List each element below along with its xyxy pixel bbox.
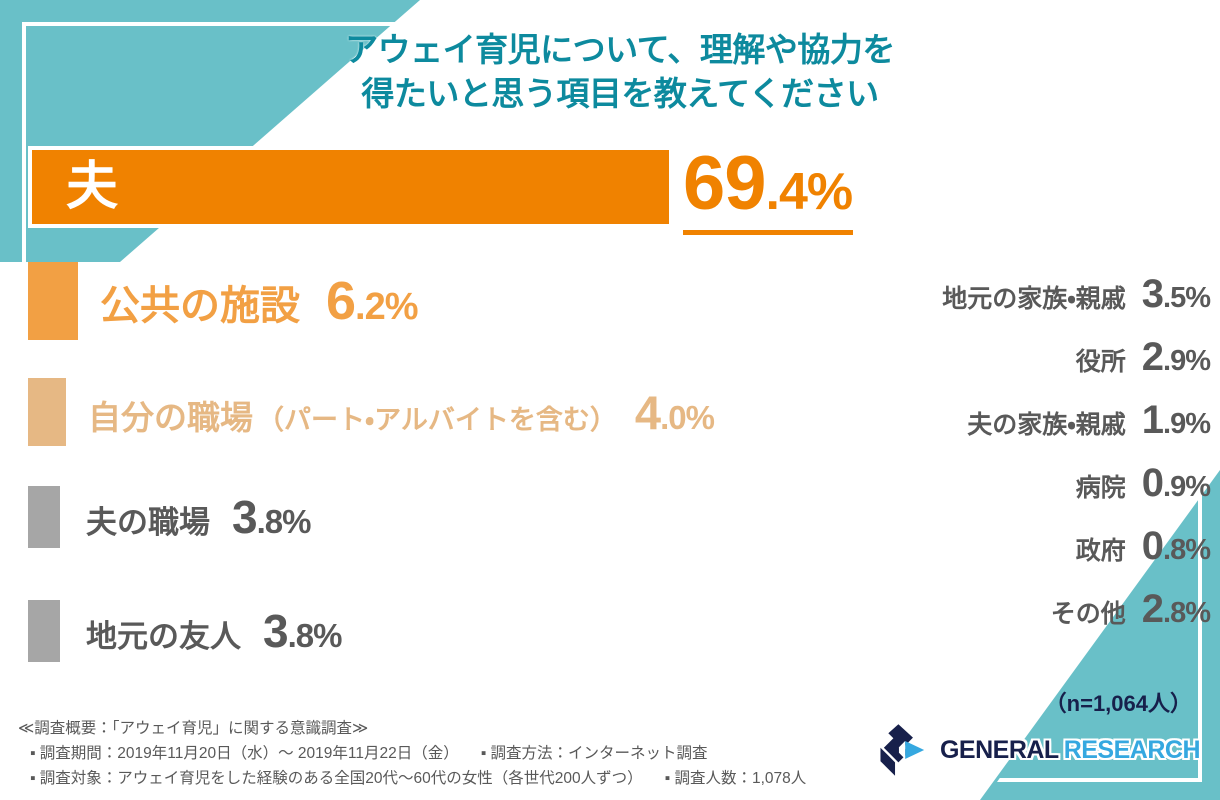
row-label-sub: （パート・アルバイトを含む） <box>257 398 617 437</box>
footnote-line-1: ≪調査概要：「アウェイ育児」に関する意識調査≫ <box>18 716 806 741</box>
footnote-line-3: ▪ 調査対象：アウェイ育児をした経験のある全国20代〜60代の女性（各世代200… <box>18 766 806 791</box>
chart-row-local-friends: 地元の友人 3.8% <box>28 600 341 662</box>
row-label: 政府 <box>1076 531 1126 567</box>
row-value-small: .8% <box>288 617 342 654</box>
hero-value-big: 69 <box>683 141 766 226</box>
survey-footnotes: ≪調査概要：「アウェイ育児」に関する意識調査≫ ▪ 調査期間：2019年11月2… <box>18 716 806 791</box>
footnote-method: ▪ 調査方法：インターネット調査 <box>481 745 708 762</box>
footnote-line-2: ▪ 調査期間：2019年11月20日（水）〜 2019年11月22日（金）▪ 調… <box>18 741 806 766</box>
row-value-small: .9% <box>1163 345 1210 377</box>
logo-text: GENERALRESEARCH <box>940 738 1200 763</box>
logo-mark-icon <box>876 722 932 778</box>
hero-value-small: .4% <box>766 163 853 221</box>
row-value-big: 0 <box>1142 461 1163 505</box>
row-marker <box>28 486 60 548</box>
chart-row-hospital: 病院 0.9% <box>840 461 1210 506</box>
row-value-small: .8% <box>1163 534 1210 566</box>
row-value-small: .5% <box>1163 282 1210 314</box>
row-label: その他 <box>1051 594 1126 630</box>
hero-label: 夫 <box>66 156 120 218</box>
row-value-big: 3 <box>232 491 257 543</box>
hero-bar <box>28 146 673 228</box>
row-value-big: 3 <box>1142 272 1163 316</box>
row-value-small: .0% <box>660 399 714 436</box>
row-value-big: 6 <box>326 271 355 331</box>
row-value-big: 3 <box>263 605 288 657</box>
row-value: 3.8% <box>232 490 310 544</box>
row-label: 地元の友人 <box>86 611 241 656</box>
row-value-big: 2 <box>1142 335 1163 379</box>
row-value: 6.2% <box>326 270 418 332</box>
footnote-target: ▪ 調査対象：アウェイ育児をした経験のある全国20代〜60代の女性（各世代200… <box>30 770 643 787</box>
hero-value-underline <box>683 230 853 235</box>
row-value: 2.9% <box>1142 335 1210 380</box>
row-value: 4.0% <box>635 385 714 440</box>
row-label: 公共の施設 <box>100 273 300 331</box>
row-value-small: .2% <box>355 286 417 328</box>
title-line-2: 得たいと思う項目を教えてください <box>240 72 1000 116</box>
chart-row-public-facility: 公共の施設 6.2% <box>28 262 418 340</box>
chart-row-government: 政府 0.8% <box>840 524 1210 569</box>
logo-general-text: GENERAL <box>940 736 1059 764</box>
row-value-big: 2 <box>1142 587 1163 631</box>
page-title: アウェイ育児について、理解や協力を 得たいと思う項目を教えてください <box>240 28 1000 115</box>
chart-row-other: その他 2.8% <box>840 587 1210 632</box>
chart-row-city-office: 役所 2.9% <box>840 335 1210 380</box>
row-value: 0.8% <box>1142 524 1210 569</box>
row-label: 夫の家族・親戚 <box>967 405 1126 441</box>
row-value-small: .8% <box>257 503 311 540</box>
row-label: 役所 <box>1076 342 1126 378</box>
footnote-period: ▪ 調査期間：2019年11月20日（水）〜 2019年11月22日（金） <box>30 745 459 762</box>
row-value: 3.8% <box>263 604 341 658</box>
general-research-logo: GENERALRESEARCH <box>876 722 1200 778</box>
title-line-1: アウェイ育児について、理解や協力を <box>240 28 1000 72</box>
row-value-small: .8% <box>1163 597 1210 629</box>
chart-row-husband-family: 夫の家族・親戚 1.9% <box>840 398 1210 443</box>
row-label: 病院 <box>1076 468 1126 504</box>
row-value: 0.9% <box>1142 461 1210 506</box>
row-label: 自分の職場 <box>88 391 253 439</box>
row-label: 夫の職場 <box>86 497 210 542</box>
row-value: 3.5% <box>1142 272 1210 317</box>
row-value: 1.9% <box>1142 398 1210 443</box>
logo-research-text: RESEARCH <box>1064 736 1200 764</box>
footnote-count: ▪ 調査人数：1,078人 <box>665 770 807 787</box>
chart-row-local-family: 地元の家族・親戚 3.5% <box>840 272 1210 317</box>
row-value-big: 4 <box>635 386 660 439</box>
right-column: 地元の家族・親戚 3.5% 役所 2.9% 夫の家族・親戚 1.9% 病院 0.… <box>840 272 1210 650</box>
row-value-small: .9% <box>1163 471 1210 503</box>
row-label: 地元の家族・親戚 <box>942 279 1126 315</box>
infographic-canvas: アウェイ育児について、理解や協力を 得たいと思う項目を教えてください 夫 69.… <box>0 0 1220 800</box>
chart-row-own-workplace: 自分の職場 （パート・アルバイトを含む） 4.0% <box>28 378 714 446</box>
row-marker <box>28 600 60 662</box>
row-value-small: .9% <box>1163 408 1210 440</box>
row-value-big: 0 <box>1142 524 1163 568</box>
row-value: 2.8% <box>1142 587 1210 632</box>
row-marker <box>28 262 78 340</box>
row-marker <box>28 378 66 446</box>
chart-row-husband-workplace: 夫の職場 3.8% <box>28 486 310 548</box>
row-value-big: 1 <box>1142 398 1163 442</box>
sample-size-label: （n=1,064人） <box>1045 686 1192 718</box>
